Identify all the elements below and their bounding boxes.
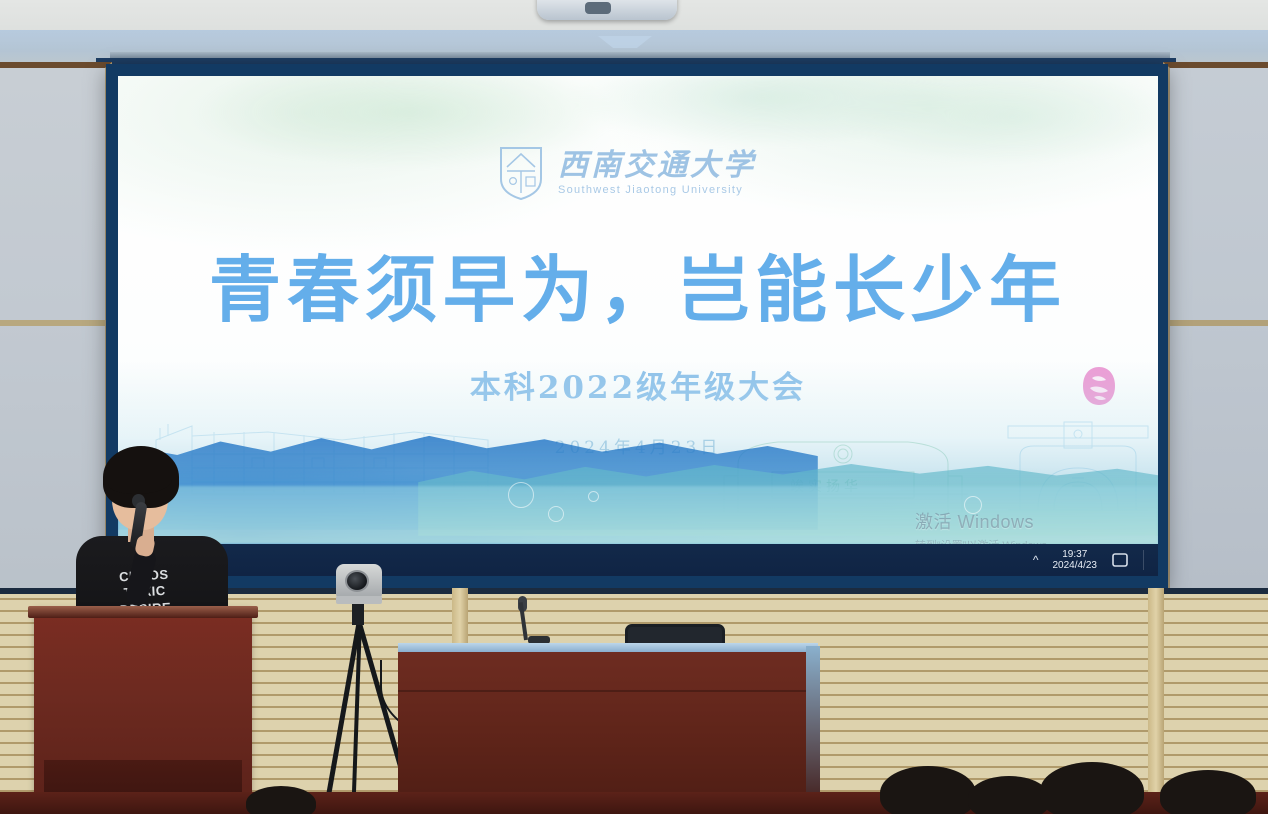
clock-time: 19:37 <box>1062 549 1087 560</box>
bubble-decoration <box>548 506 564 522</box>
table-seam <box>398 690 818 692</box>
wall-panel-right <box>1163 62 1268 622</box>
table-right-edge <box>806 646 820 814</box>
bubble-decoration <box>964 496 982 514</box>
taskbar-clock[interactable]: 19:37 2024/4/23 <box>1053 549 1098 572</box>
podium-top <box>28 606 258 618</box>
clock-date: 2024/4/23 <box>1053 560 1098 571</box>
chevron-up-icon[interactable]: ^ <box>1033 553 1039 567</box>
university-name-en: Southwest Jiaotong University <box>558 184 756 196</box>
ceiling-projector <box>537 0 677 20</box>
presenter-table <box>398 652 818 814</box>
lecture-hall-scene: 西南交通大学 Southwest Jiaotong University 青春须… <box>0 0 1268 814</box>
audience-head <box>1040 762 1144 814</box>
bubble-decoration <box>508 482 534 508</box>
slide-main-title: 青春须早为，岂能长少年 <box>118 254 1158 326</box>
slide-bottom-watercolor <box>118 359 1158 544</box>
shield-crest-icon <box>498 145 544 201</box>
audience-head <box>880 766 976 814</box>
audience-head <box>968 776 1050 814</box>
notification-center-icon[interactable] <box>1111 552 1129 568</box>
taskbar-system-tray: ^ 19:37 2024/4/23 <box>1033 549 1150 572</box>
university-logo: 西南交通大学 Southwest Jiaotong University <box>498 142 818 204</box>
audience-head <box>1160 770 1256 814</box>
projection-screen: 西南交通大学 Southwest Jiaotong University 青春须… <box>118 76 1158 576</box>
bubble-decoration <box>588 491 599 502</box>
presentation-slide: 西南交通大学 Southwest Jiaotong University 青春须… <box>118 76 1158 544</box>
windows-taskbar[interactable]: ^ 19:37 2024/4/23 <box>118 544 1158 576</box>
university-name-cn: 西南交通大学 <box>558 150 756 182</box>
projector-lens-icon <box>585 2 611 14</box>
taskbar-divider <box>1143 550 1144 570</box>
university-logo-text: 西南交通大学 Southwest Jiaotong University <box>558 150 756 196</box>
wave-layer-c <box>118 486 1158 544</box>
camera-base <box>336 596 382 604</box>
wall-post <box>1148 588 1164 814</box>
tripod-head <box>352 603 364 625</box>
camera-lens-icon <box>345 570 369 592</box>
audience-head <box>246 786 316 814</box>
